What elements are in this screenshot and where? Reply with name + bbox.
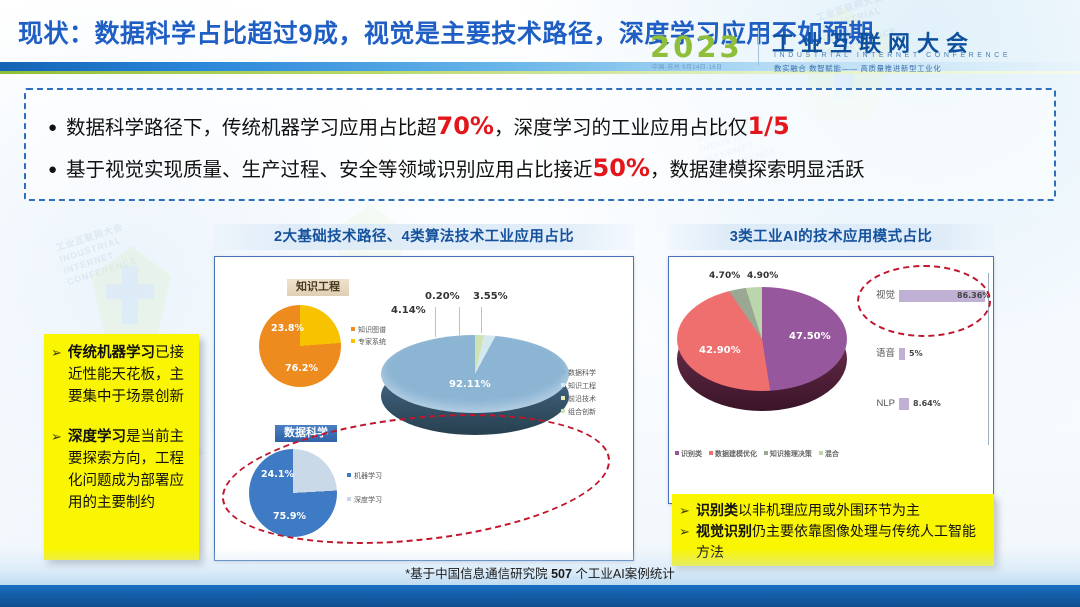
legend-label: 混合 (825, 451, 839, 458)
pie-slice-label: 76.2% (285, 363, 318, 374)
footnote-number: 507 (551, 567, 572, 581)
bar-recognition-tech: 视觉 86.36% 语音 5% NLP 8.64% (869, 279, 989, 439)
bar-row: 视觉 86.36% (869, 289, 989, 303)
legend-label: 深度学习 (354, 497, 382, 504)
conference-logo: 2023 中国·苏州 9月14日-16日 工业互联网大会 INDUSTRIAL … (650, 24, 1070, 76)
pie-slice-label: 4.70% (709, 271, 740, 281)
pie-slice-label: 92.11% (449, 379, 491, 390)
pie-slice-label: 0.20% (425, 291, 460, 302)
arrow-icon: ➢ (679, 500, 690, 521)
bar-row: 语音 5% (869, 347, 989, 361)
bar-value-label: 86.36% (957, 289, 990, 303)
pie-ai-application-modes: 47.50% 42.90% 4.70% 4.90% (677, 287, 857, 417)
footnote-suffix: 个工业AI案例统计 (572, 567, 675, 581)
callout-left: ➢传统机器学习已接近性能天花板，主要集中于场景创新 ➢深度学习是当前主要探索方向… (44, 334, 199, 560)
pie-title-knowledge-engineering: 知识工程 (287, 279, 349, 296)
slide-canvas: 工业互联网大会 INDUSTRIAL INTERNET CONFERENCE 工… (0, 0, 1080, 607)
leader-line (481, 307, 482, 333)
bar-value-label: 5% (909, 347, 923, 361)
callout-item: ➢识别类以非机理应用或外围环节为主 (678, 500, 986, 521)
arrow-icon: ➢ (51, 426, 62, 448)
bullet-text: ，数据建模探索明显活跃 (650, 159, 865, 181)
bullet-highlight: 1/5 (747, 112, 789, 140)
logo-slogan: 数实融合 数智赋能—— 高质量推进新型工业化 (774, 63, 941, 74)
pie-slice-label: 47.50% (789, 331, 831, 342)
pie-title-data-science: 数据科学 (275, 425, 337, 442)
chart-panel-left: 知识工程 23.8% 76.2% 知识图谱 专家系统 数据科学 24.1% 75… (214, 256, 634, 561)
legend-label: 前沿技术 (568, 396, 596, 403)
arrow-icon: ➢ (51, 342, 62, 364)
bar-fill (899, 348, 905, 360)
bar-value-label: 8.64% (913, 397, 941, 411)
legend-label: 知识工程 (568, 383, 596, 390)
legend-label: 数据科学 (568, 370, 596, 377)
logo-name-en: INDUSTRIAL INTERNET CONFERENCE (774, 52, 1011, 59)
bullet-marker: ● (48, 157, 66, 183)
bar-category-label: 语音 (869, 347, 895, 361)
pie-slice-label: 4.14% (391, 305, 426, 316)
pie-slice-label: 4.90% (747, 271, 778, 281)
pie-slice-label: 24.1% (261, 469, 294, 480)
summary-dashed-box: ●数据科学路径下，传统机器学习应用占比超70%，深度学习的工业应用占比仅1/5 … (24, 88, 1056, 201)
leader-line (459, 307, 460, 335)
pie-slice-label: 75.9% (273, 511, 306, 522)
bullet-text: ，深度学习的工业应用占比仅 (494, 117, 748, 139)
bullet-highlight: 50% (593, 154, 650, 182)
pie-legend-data-science: 机器学习 深度学习 (347, 471, 382, 507)
legend-label: 知识图谱 (358, 327, 386, 334)
bullet-text: 基于视觉实现质量、生产过程、安全等领域识别应用占比接近 (66, 159, 593, 181)
watermark-art: 工业互联网大会 INDUSTRIAL INTERNET CONFERENCE (54, 220, 138, 288)
legend-label: 知识推理决策 (770, 451, 812, 458)
pie-3d-top (381, 335, 569, 413)
callout-bold: 视觉识别 (696, 523, 752, 539)
pie-slice-label: 23.8% (271, 323, 304, 334)
bullet-marker: ● (48, 115, 66, 141)
pie-slice-label: 3.55% (473, 291, 508, 302)
panel-heading-left: 2大基础技术路径、4类算法技术工业应用占比 (214, 224, 634, 250)
pie-legend-ai-application-modes: 识别类 数据建模优化 知识推理决策 混合 (675, 449, 865, 459)
pie-data-science (249, 449, 337, 537)
footnote-prefix: *基于中国信息通信研究院 (405, 567, 551, 581)
arrow-icon: ➢ (679, 521, 690, 542)
legend-label: 数据建模优化 (715, 451, 757, 458)
pie-knowledge-engineering (259, 305, 341, 387)
bullet-highlight: 70% (437, 112, 494, 140)
callout-bold: 识别类 (696, 502, 738, 518)
chart-panel-right: 47.50% 42.90% 4.70% 4.90% 识别类 数据建模优化 知识推… (668, 256, 994, 504)
legend-label: 识别类 (681, 451, 702, 458)
logo-year-sub: 中国·苏州 9月14日-16日 (652, 62, 722, 71)
legend-label: 机器学习 (354, 473, 382, 480)
footnote: *基于中国信息通信研究院 507 个工业AI案例统计 (0, 563, 1080, 582)
bar-category-label: NLP (869, 397, 895, 411)
callout-bold: 深度学习 (68, 429, 126, 445)
bar-category-label: 视觉 (869, 289, 895, 303)
summary-bullet: ●基于视觉实现质量、生产过程、安全等领域识别应用占比接近50%，数据建模探索明显… (48, 155, 864, 183)
panel-heading-right: 3类工业AI的技术应用模式占比 (668, 224, 994, 250)
pie-slice-label: 42.90% (699, 345, 741, 356)
legend-label: 组合创新 (568, 409, 596, 416)
leader-line (435, 307, 436, 337)
pie-legend-four-tech-paths: 数据科学 知识工程 前沿技术 组合创新 (561, 367, 596, 419)
callout-item: ➢深度学习是当前主要探索方向，工程化问题成为部署应用的主要制约 (50, 426, 191, 514)
bar-row: NLP 8.64% (869, 397, 989, 411)
bullet-text: 数据科学路径下，传统机器学习应用占比超 (66, 117, 437, 139)
callout-item: ➢传统机器学习已接近性能天花板，主要集中于场景创新 (50, 342, 191, 408)
callout-bold: 传统机器学习 (68, 345, 155, 361)
summary-bullet: ●数据科学路径下，传统机器学习应用占比超70%，深度学习的工业应用占比仅1/5 (48, 113, 790, 141)
pie-four-tech-paths: 4.14% 0.20% 3.55% 92.11% (381, 335, 581, 455)
bottom-band (0, 585, 1080, 607)
bar-fill (899, 398, 909, 410)
logo-divider (758, 28, 759, 66)
callout-text: 以非机理应用或外围环节为主 (738, 502, 920, 518)
logo-year: 2023 (650, 30, 743, 64)
